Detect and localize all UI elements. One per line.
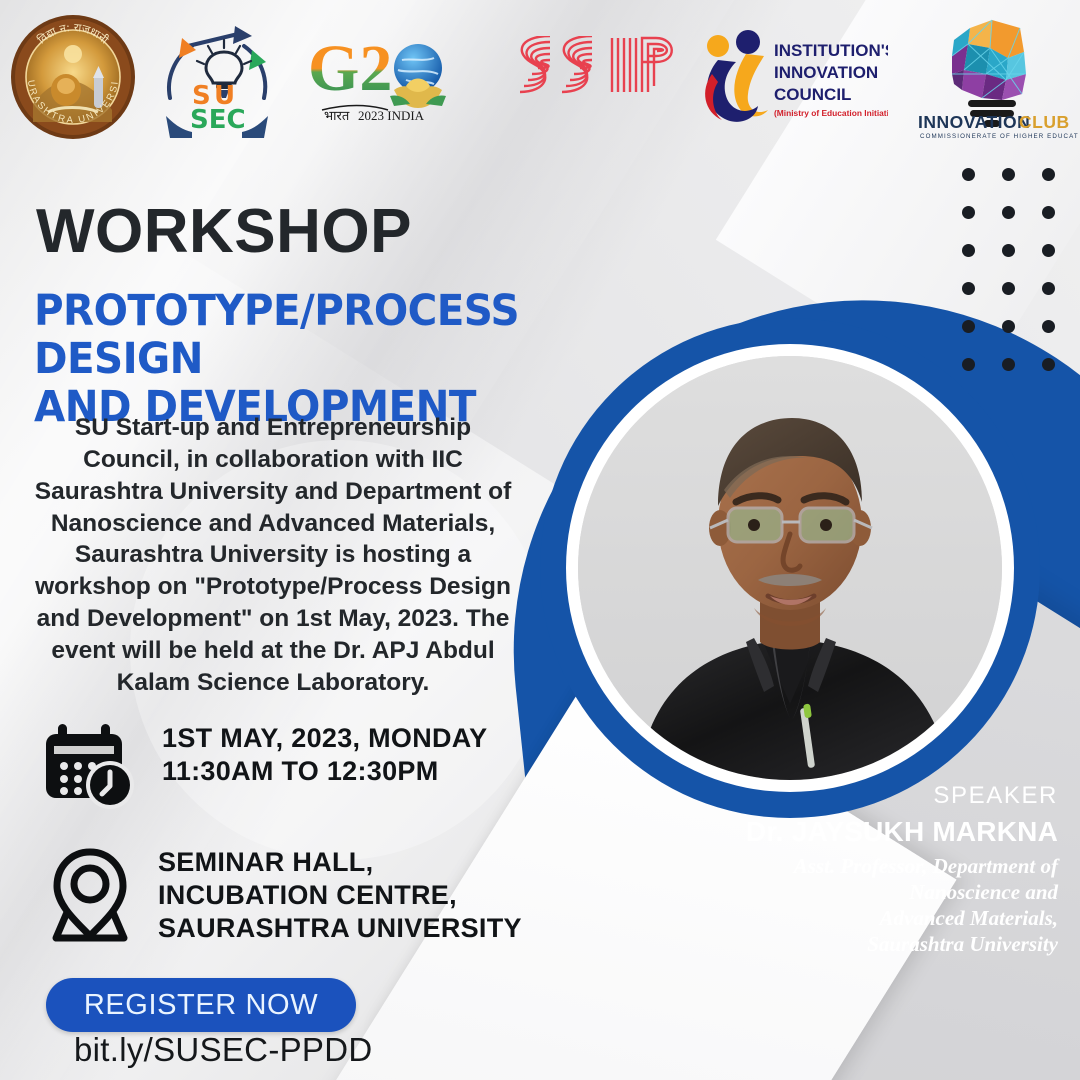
svg-text:COMMISSIONERATE OF HIGHER EDUC: COMMISSIONERATE OF HIGHER EDUCATION bbox=[920, 133, 1078, 140]
venue-text: SEMINAR HALL, INCUBATION CENTRE, SAURASH… bbox=[158, 846, 522, 945]
svg-text:SEC: SEC bbox=[190, 105, 246, 135]
svg-text:COUNCIL: COUNCIL bbox=[774, 85, 851, 104]
svg-text:INNOVATION: INNOVATION bbox=[774, 63, 878, 82]
svg-text:(Ministry of Education Initiat: (Ministry of Education Initiative) bbox=[774, 108, 888, 118]
workshop-subtitle: PROTOTYPE/PROCESS DESIGN AND DEVELOPMENT bbox=[34, 287, 636, 431]
avatar bbox=[578, 356, 1002, 780]
speaker-role-line4: Saurashtra University bbox=[728, 931, 1058, 957]
ssip-logo bbox=[516, 36, 686, 108]
g20-logo: G2 भारत 2023 INDIA bbox=[306, 28, 456, 133]
register-now-button[interactable]: REGISTER NOW bbox=[46, 978, 356, 1032]
logo-bar: विद्या न: राजधानी SAURASHTRA UNIVERSITY bbox=[0, 0, 1080, 152]
svg-text:INSTITUTION'S: INSTITUTION'S bbox=[774, 41, 888, 60]
speaker-label: SPEAKER bbox=[728, 782, 1058, 810]
iic-logo: INSTITUTION'S INNOVATION COUNCIL (Minist… bbox=[692, 24, 888, 134]
svg-text:भारत: भारत bbox=[324, 109, 350, 124]
venue-line-3: SAURASHTRA UNIVERSITY bbox=[158, 912, 522, 945]
venue-line-2: INCUBATION CENTRE, bbox=[158, 879, 522, 912]
calendar-clock-icon bbox=[42, 722, 140, 815]
speaker-role-line3: Advanced Materials, bbox=[728, 905, 1058, 931]
speaker-role: Asst. Professor, Department of Nanoscien… bbox=[728, 853, 1058, 957]
speaker-role-line2: Nanoscience and bbox=[728, 879, 1058, 905]
innovation-club-logo: INNOVATION CLUB COMMISSIONERATE OF HIGHE… bbox=[906, 14, 1078, 140]
speaker-name: Dr. JAYSUKH MARKNA bbox=[728, 816, 1058, 848]
workshop-subtitle-line1: PROTOTYPE/PROCESS DESIGN bbox=[34, 287, 636, 383]
svg-text:G2: G2 bbox=[308, 32, 392, 105]
dot-grid-decoration bbox=[962, 168, 1080, 396]
svg-text:CLUB: CLUB bbox=[1019, 112, 1070, 132]
registration-link[interactable]: bit.ly/SUSEC-PPDD bbox=[74, 1031, 373, 1069]
schedule-text: 1ST MAY, 2023, MONDAY 11:30AM TO 12:30PM bbox=[162, 722, 487, 788]
venue-line-1: SEMINAR HALL, bbox=[158, 846, 522, 879]
saurashtra-university-seal: विद्या न: राजधानी SAURASHTRA UNIVERSITY bbox=[8, 12, 138, 142]
speaker-info: SPEAKER Dr. JAYSUKH MARKNA Asst. Profess… bbox=[728, 782, 1058, 957]
event-date: 1ST MAY, 2023, MONDAY bbox=[162, 722, 487, 755]
description-text: SU Start-up and Entrepreneurship Council… bbox=[28, 412, 518, 699]
page-title: WORKSHOP bbox=[36, 196, 412, 267]
venue-row: SEMINAR HALL, INCUBATION CENTRE, SAURASH… bbox=[44, 846, 522, 947]
svg-text:2023 INDIA: 2023 INDIA bbox=[358, 108, 425, 123]
svg-text:INNOVATION: INNOVATION bbox=[918, 112, 1030, 132]
susec-logo: S U SEC bbox=[152, 20, 282, 140]
workshop-poster: विद्या न: राजधानी SAURASHTRA UNIVERSITY bbox=[0, 0, 1080, 1080]
schedule-row: 1ST MAY, 2023, MONDAY 11:30AM TO 12:30PM bbox=[42, 722, 487, 815]
map-pin-icon bbox=[44, 846, 136, 947]
speaker-role-line1: Asst. Professor, Department of bbox=[728, 853, 1058, 879]
event-time: 11:30AM TO 12:30PM bbox=[162, 755, 487, 788]
